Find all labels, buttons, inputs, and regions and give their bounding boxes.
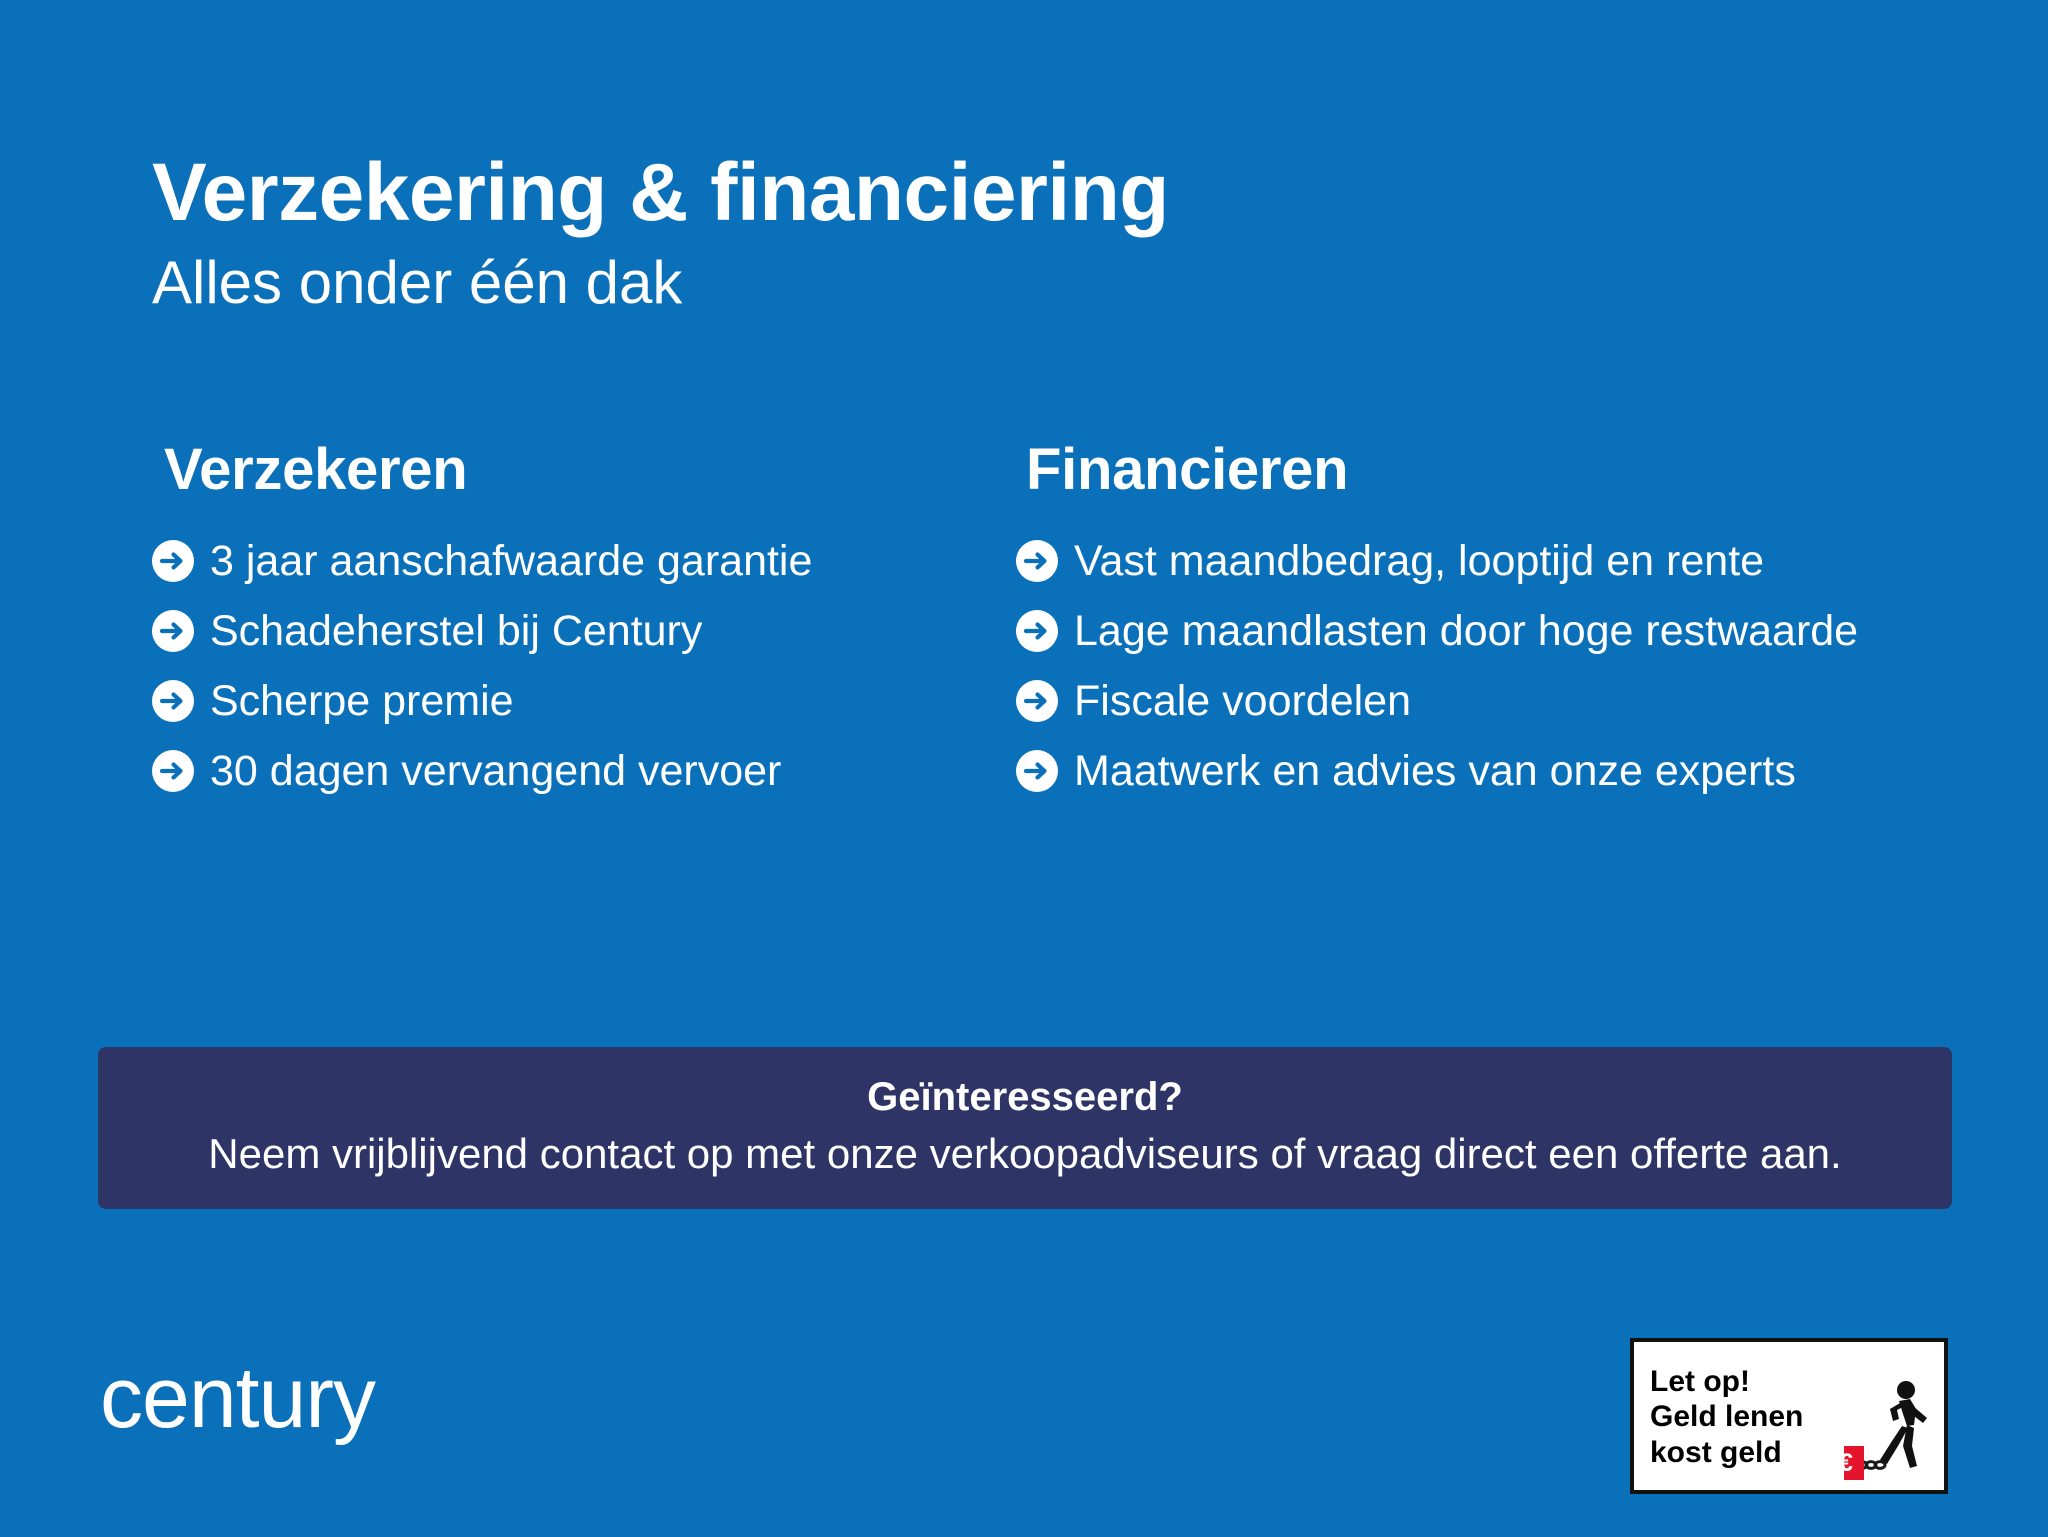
list-item-label: Maatwerk en advies van onze experts (1074, 747, 1796, 795)
walking-person-icon: € (1844, 1370, 1936, 1482)
feature-columns: Verzekeren 3 jaar aanschafwaarde garanti… (100, 440, 1980, 796)
afm-warning-line-3: kost geld (1650, 1435, 1803, 1470)
afm-warning-box: Let op! Geld lenen kost geld (1630, 1338, 1948, 1494)
list-item-label: Lage maandlasten door hoge restwaarde (1074, 607, 1858, 655)
arrow-circle-right-icon (152, 610, 194, 652)
list-item: 30 dagen vervangend vervoer (152, 747, 990, 795)
list-item: Lage maandlasten door hoge restwaarde (1016, 607, 1980, 655)
list-item-label: Scherpe premie (210, 677, 514, 725)
cta-body-text: Neem vrijblijvend contact op met onze ve… (128, 1129, 1922, 1179)
afm-warning-line-1: Let op! (1650, 1364, 1803, 1399)
slide-canvas: Verzekering & financiering Alles onder é… (0, 0, 2048, 1537)
arrow-circle-right-icon (1016, 680, 1058, 722)
list-item: 3 jaar aanschafwaarde garantie (152, 537, 990, 585)
afm-warning-line-2: Geld lenen (1650, 1399, 1803, 1434)
arrow-circle-right-icon (152, 540, 194, 582)
list-item-label: Schadeherstel bij Century (210, 607, 702, 655)
cta-title: Geïnteresseerd? (128, 1073, 1922, 1121)
arrow-circle-right-icon (1016, 540, 1058, 582)
list-item-label: 30 dagen vervangend vervoer (210, 747, 781, 795)
list-item-label: 3 jaar aanschafwaarde garantie (210, 537, 812, 585)
list-item: Vast maandbedrag, looptijd en rente (1016, 537, 1980, 585)
list-item-label: Fiscale voordelen (1074, 677, 1411, 725)
list-item: Schadeherstel bij Century (152, 607, 990, 655)
arrow-circle-right-icon (1016, 610, 1058, 652)
column-verzekeren: Verzekeren 3 jaar aanschafwaarde garanti… (100, 440, 990, 796)
page-title: Verzekering & financiering (152, 150, 1852, 236)
cta-banner[interactable]: Geïnteresseerd? Neem vrijblijvend contac… (98, 1047, 1952, 1209)
euro-block-icon: € (1844, 1446, 1864, 1480)
century-logo: century (100, 1355, 375, 1441)
feature-list-financieren: Vast maandbedrag, looptijd en rente Lage… (1016, 537, 1980, 796)
list-item: Maatwerk en advies van onze experts (1016, 747, 1980, 795)
afm-warning-artwork: € (1803, 1352, 1936, 1482)
feature-list-verzekeren: 3 jaar aanschafwaarde garantie Schadeher… (152, 537, 990, 796)
slide-header: Verzekering & financiering Alles onder é… (152, 150, 1852, 317)
column-heading-financieren: Financieren (1016, 440, 1980, 501)
svg-text:€: € (1844, 1449, 1853, 1477)
afm-warning-content: Let op! Geld lenen kost geld (1634, 1342, 1944, 1490)
column-financieren: Financieren Vast maandbedrag, looptijd e… (990, 440, 1980, 796)
page-subtitle: Alles onder één dak (152, 248, 1852, 317)
arrow-circle-right-icon (152, 750, 194, 792)
list-item: Scherpe premie (152, 677, 990, 725)
afm-warning-text: Let op! Geld lenen kost geld (1650, 1364, 1803, 1470)
arrow-circle-right-icon (152, 680, 194, 722)
arrow-circle-right-icon (1016, 750, 1058, 792)
column-heading-verzekeren: Verzekeren (152, 440, 990, 501)
list-item: Fiscale voordelen (1016, 677, 1980, 725)
list-item-label: Vast maandbedrag, looptijd en rente (1074, 537, 1764, 585)
